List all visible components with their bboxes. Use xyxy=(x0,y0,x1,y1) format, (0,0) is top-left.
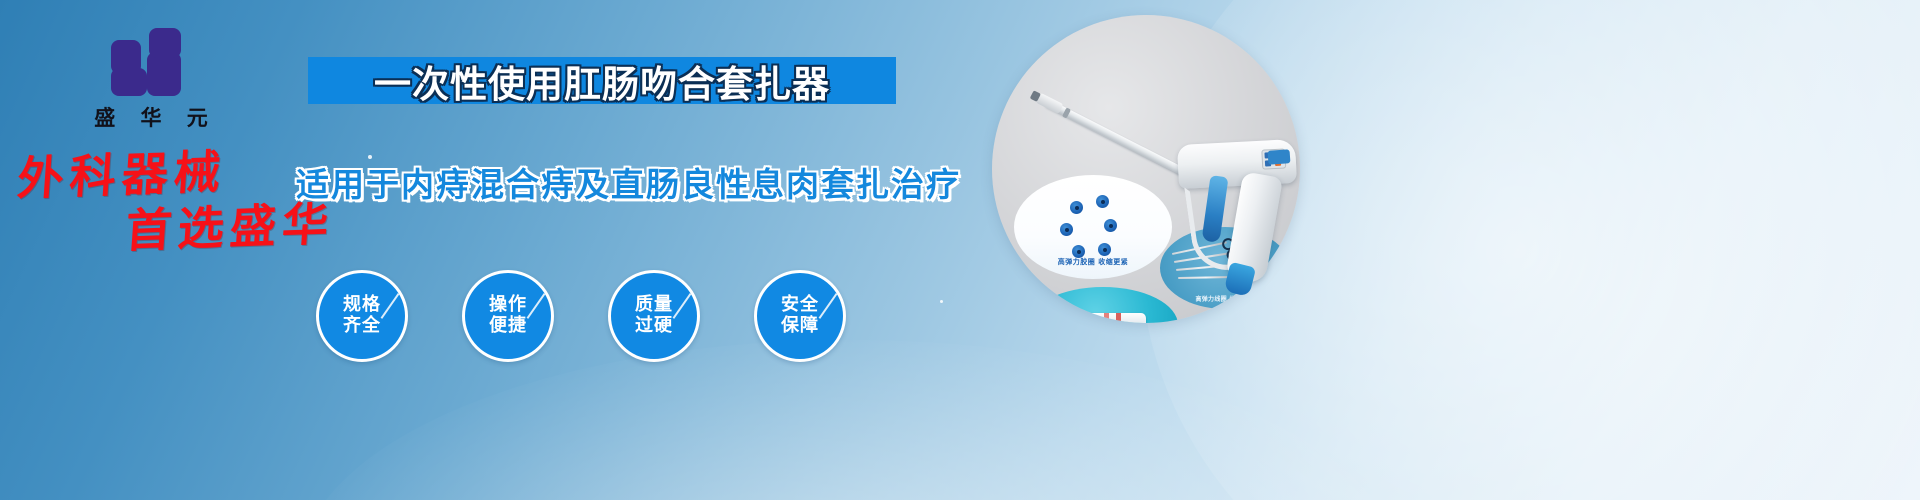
rubber-band-icon xyxy=(1104,219,1117,232)
slash-decoration-icon xyxy=(381,293,400,319)
sparkle-icon xyxy=(940,300,943,303)
needle-caption: 高弹力线圈 扎的更紧 xyxy=(1160,294,1290,303)
feature-badge-line-1: 安全 xyxy=(781,294,819,315)
slash-decoration-icon xyxy=(673,293,692,319)
feature-badge-line-1: 质量 xyxy=(635,294,673,315)
product-photo-circle: 高弹力胶圈 收缩更紧 高弹力线圈 扎的更紧 xyxy=(992,15,1300,323)
feature-badge-line-2: 过硬 xyxy=(635,315,673,336)
feature-badge-line-2: 便捷 xyxy=(489,315,527,336)
company-logo-mark-icon xyxy=(103,26,199,98)
feature-badge-line-2: 保障 xyxy=(781,315,819,336)
main-title-bar: 一次性使用肛肠吻合套扎器 xyxy=(308,57,896,104)
company-logo-name: 盛 华 元 xyxy=(66,102,236,132)
feature-badge-line-2: 齐全 xyxy=(343,315,381,336)
main-title-text: 一次性使用肛肠吻合套扎器 xyxy=(374,54,830,108)
slogan-line-2: 首选盛华 xyxy=(124,200,350,254)
rubber-band-photo-inset: 高弹力胶圈 收缩更紧 xyxy=(1014,175,1172,279)
cartridge-photo-inset xyxy=(1028,287,1178,323)
company-logo[interactable]: 盛 华 元 xyxy=(66,26,236,132)
background-glow-bottom xyxy=(300,340,1400,500)
needle-photo-inset: 高弹力线圈 扎的更紧 xyxy=(1160,227,1290,309)
feature-badge-list: 规格 齐全 操作 便捷 质量 过硬 安全 保障 xyxy=(316,270,846,362)
cartridge-icon xyxy=(1060,313,1146,323)
rubber-band-caption: 高弹力胶圈 收缩更紧 xyxy=(1014,257,1172,267)
rubber-band-icon xyxy=(1070,201,1083,214)
slash-decoration-icon xyxy=(819,293,838,319)
slash-decoration-icon xyxy=(527,293,546,319)
feature-badge-line-1: 规格 xyxy=(343,294,381,315)
product-banner: 盛 华 元 外科器械 首选盛华 一次性使用肛肠吻合套扎器 适用于内痔混合痔及直肠… xyxy=(0,0,1920,500)
needle-icon xyxy=(1176,264,1234,271)
feature-badge-specifications[interactable]: 规格 齐全 xyxy=(316,270,408,362)
feature-badge-safety[interactable]: 安全 保障 xyxy=(754,270,846,362)
needle-icon xyxy=(1174,252,1232,263)
subtitle-text: 适用于内痔混合痔及直肠良性息肉套扎治疗 xyxy=(296,158,961,206)
needle-icon xyxy=(1178,276,1234,279)
feature-badge-line-1: 操作 xyxy=(489,294,527,315)
rubber-band-icon xyxy=(1096,195,1109,208)
feature-badge-operation[interactable]: 操作 便捷 xyxy=(462,270,554,362)
rubber-band-icon xyxy=(1060,223,1073,236)
feature-badge-quality[interactable]: 质量 过硬 xyxy=(608,270,700,362)
rubber-band-icon xyxy=(1098,243,1111,256)
